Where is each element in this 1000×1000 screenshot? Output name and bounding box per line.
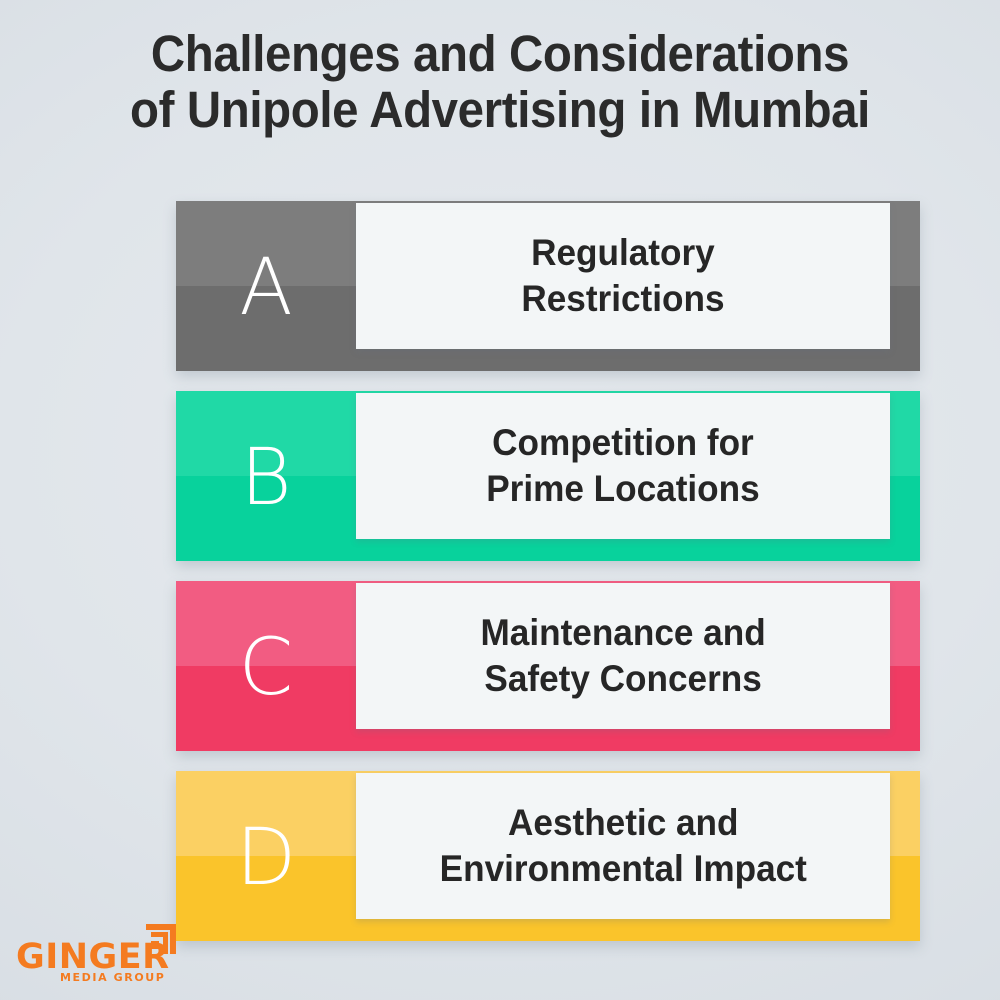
item-label: Maintenance and Safety Concerns	[480, 610, 765, 702]
page-title-line-2: of Unipole Advertising in Mumbai	[44, 82, 955, 138]
infographic-canvas: Challenges and Considerations of Unipole…	[0, 0, 1000, 1000]
brand-logo: GINGER MEDIA GROUP	[16, 922, 196, 986]
page-title-line-1: Challenges and Considerations	[44, 26, 955, 82]
item-label: Regulatory Restrictions	[521, 230, 724, 322]
list-item: C Maintenance and Safety Concerns	[176, 581, 920, 751]
item-text-panel: Maintenance and Safety Concerns	[356, 583, 890, 729]
item-letter: D	[236, 819, 296, 897]
list-item: A Regulatory Restrictions	[176, 201, 920, 371]
item-text-panel: Aesthetic and Environmental Impact	[356, 773, 890, 919]
page-title: Challenges and Considerations of Unipole…	[0, 26, 1000, 138]
list-item: B Competition for Prime Locations	[176, 391, 920, 561]
item-letter-badge: C	[176, 581, 356, 751]
list-item: D Aesthetic and Environmental Impact	[176, 771, 920, 941]
item-letter: B	[240, 439, 291, 517]
item-text-panel: Regulatory Restrictions	[356, 203, 890, 349]
item-label: Aesthetic and Environmental Impact	[439, 800, 806, 892]
item-letter: A	[239, 249, 292, 327]
brand-tagline: MEDIA GROUP	[60, 972, 165, 983]
item-text-panel: Competition for Prime Locations	[356, 393, 890, 539]
item-letter: C	[239, 629, 293, 707]
item-letter-badge: D	[176, 771, 356, 941]
challenge-list: A Regulatory Restrictions B Competition …	[176, 201, 920, 941]
item-letter-badge: B	[176, 391, 356, 561]
nested-corner-squares-icon	[144, 922, 178, 954]
item-label: Competition for Prime Locations	[486, 420, 759, 512]
item-letter-badge: A	[176, 201, 356, 371]
